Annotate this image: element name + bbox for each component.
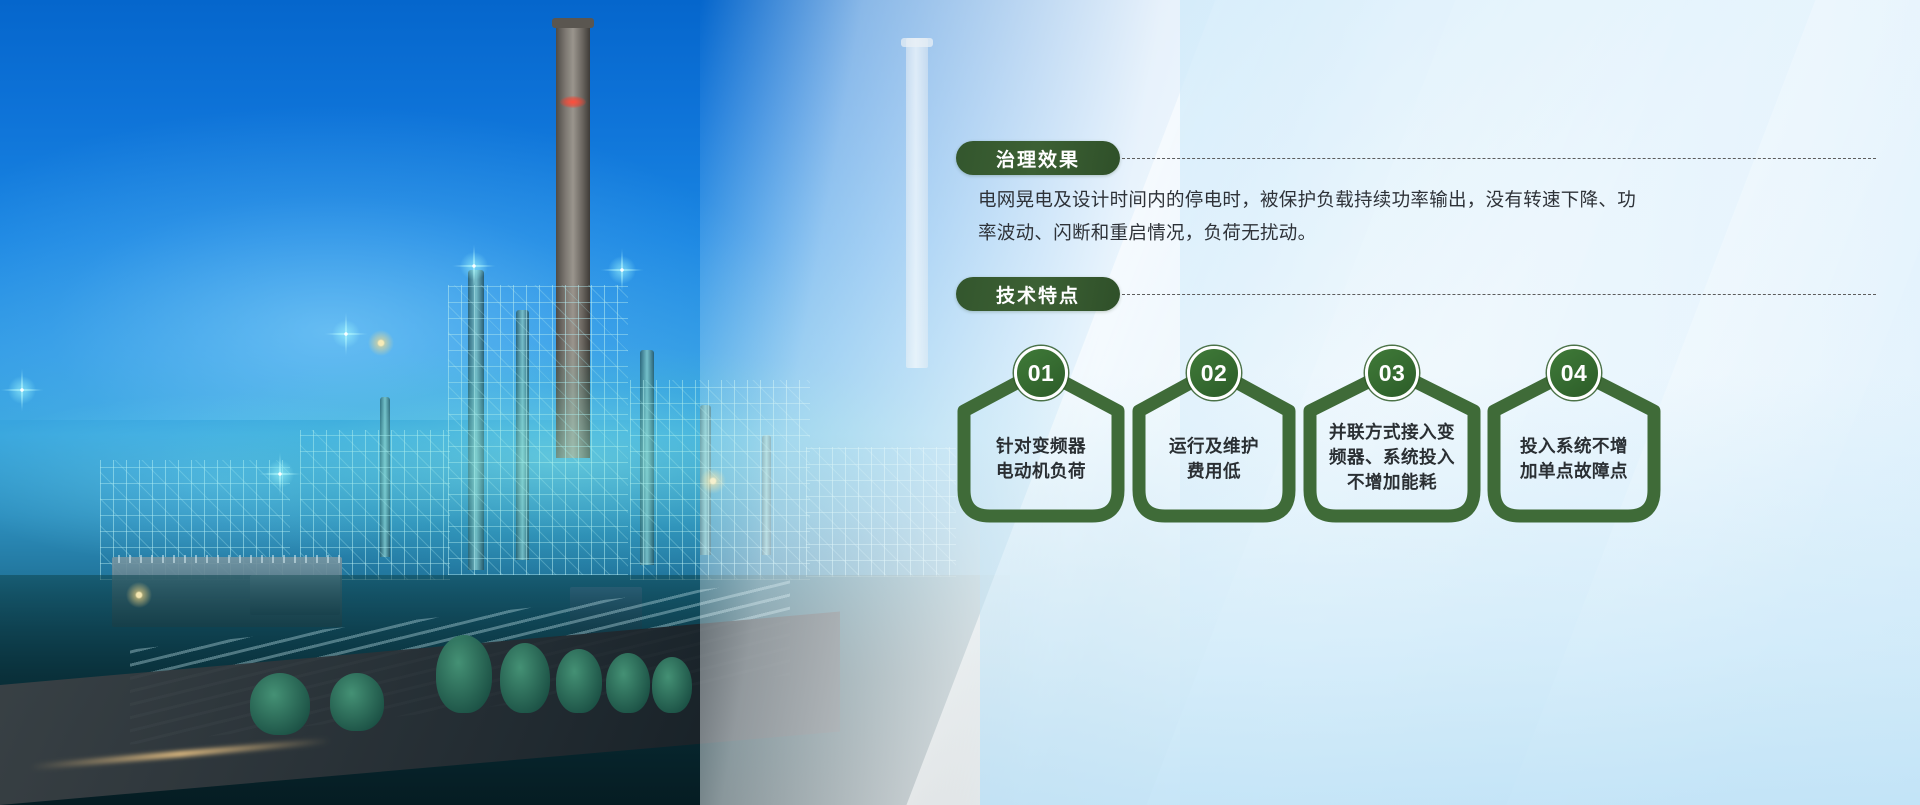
tree: [330, 673, 384, 731]
tree: [436, 635, 492, 713]
tree: [652, 657, 692, 713]
feature-label-line: 频器、系统投入: [1292, 445, 1492, 470]
feature-number-badge-01: 01: [1014, 346, 1068, 400]
feature-number-badge-04: 04: [1547, 346, 1601, 400]
feature-label-line: 费用低: [1124, 459, 1304, 484]
feature-label-line: 投入系统不增: [1476, 434, 1672, 459]
feature-number-badge-02: 02: [1187, 346, 1241, 400]
feature-card-01[interactable]: 01 针对变频器 电动机负荷: [946, 358, 1136, 528]
feature-label-01: 针对变频器 电动机负荷: [946, 434, 1136, 484]
feature-label-04: 投入系统不增 加单点故障点: [1476, 434, 1672, 484]
tree: [250, 673, 310, 735]
section-title-technical-features: 技术特点: [956, 277, 1120, 311]
tree: [500, 643, 550, 713]
feature-label-line: 运行及维护: [1124, 434, 1304, 459]
tree: [556, 649, 602, 713]
feature-label-line: 电动机负荷: [946, 459, 1136, 484]
feature-label-line: 针对变频器: [946, 434, 1136, 459]
street-lamp-glow: [700, 468, 726, 494]
feature-card-02[interactable]: 02 运行及维护 费用低: [1124, 358, 1304, 528]
section-header-governance-effect: 治理效果: [956, 141, 1876, 175]
street-lamp-glow: [368, 330, 394, 356]
street-lamp-glow: [126, 582, 152, 608]
chimney-warning-light: [560, 96, 586, 108]
promo-banner: 治理效果 电网晃电及设计时间内的停电时，被保护负载持续功率输出，没有转速下降、功…: [0, 0, 1920, 805]
feature-label-line: 不增加能耗: [1292, 470, 1492, 495]
section-title-governance-effect: 治理效果: [956, 141, 1120, 175]
feature-hexagon-row: 01 针对变频器 电动机负荷 02 运行及维护 费用低 03 并联方式: [946, 338, 1606, 518]
tree: [606, 653, 650, 713]
governance-effect-paragraph: 电网晃电及设计时间内的停电时，被保护负载持续功率输出，没有转速下降、功率波动、闪…: [978, 183, 1654, 249]
feature-label-03: 并联方式接入变 频器、系统投入 不增加能耗: [1292, 420, 1492, 495]
feature-label-line: 并联方式接入变: [1292, 420, 1492, 445]
feature-card-03[interactable]: 03 并联方式接入变 频器、系统投入 不增加能耗: [1292, 358, 1492, 528]
feature-label-02: 运行及维护 费用低: [1124, 434, 1304, 484]
feature-card-04[interactable]: 04 投入系统不增 加单点故障点: [1476, 358, 1672, 528]
dashed-divider: [1122, 158, 1876, 159]
feature-label-line: 加单点故障点: [1476, 459, 1672, 484]
section-header-technical-features: 技术特点: [956, 277, 1876, 311]
feature-number-badge-03: 03: [1365, 346, 1419, 400]
dashed-divider: [1122, 294, 1876, 295]
building-roofline: [118, 555, 340, 563]
